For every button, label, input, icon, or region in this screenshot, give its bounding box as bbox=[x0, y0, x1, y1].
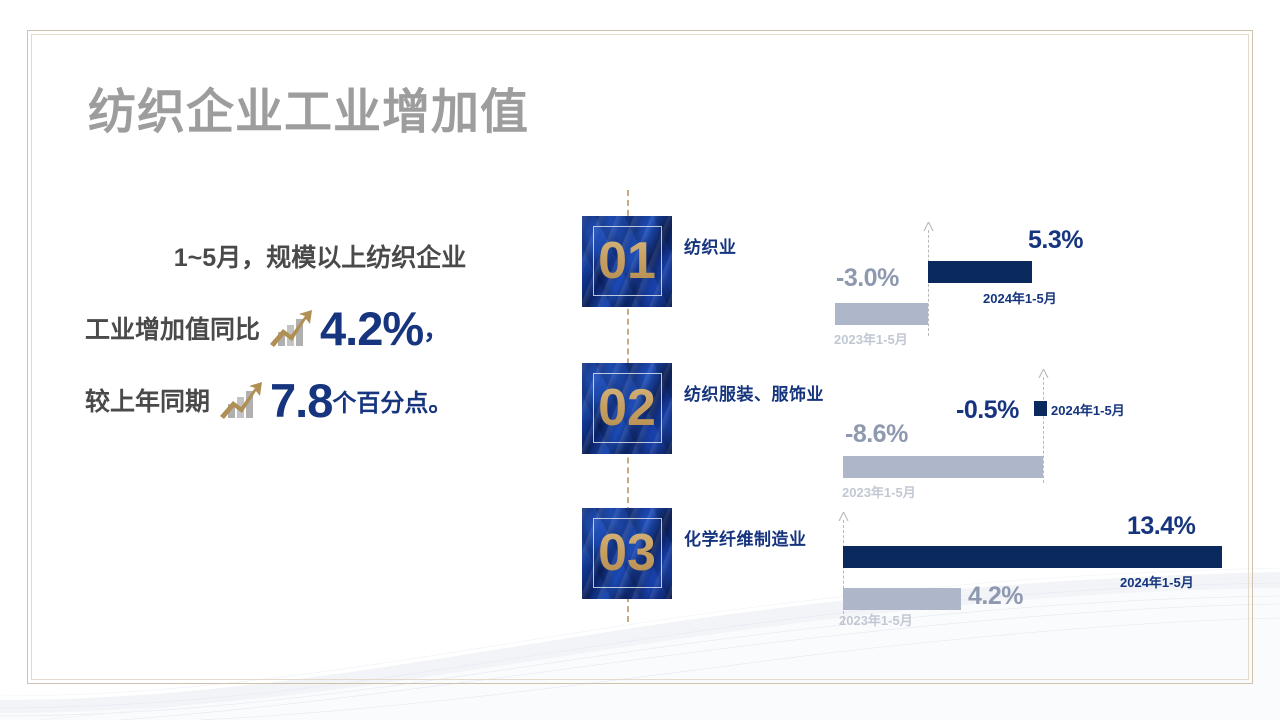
badge-number: 02 bbox=[582, 363, 672, 454]
summary-line-1: 1~5月，规模以上纺织企业 bbox=[85, 220, 555, 292]
badge-number: 03 bbox=[582, 508, 672, 599]
page-title: 纺织企业工业增加值 bbox=[88, 72, 529, 142]
series-label-2024: 2024年1-5月 bbox=[1120, 572, 1194, 591]
value-label-2023: -3.0% bbox=[836, 264, 899, 293]
series-label-2023: 2023年1-5月 bbox=[842, 482, 916, 501]
badge-number: 01 bbox=[582, 216, 672, 307]
summary-line-3-prefix: 较上年同期 bbox=[85, 382, 210, 418]
summary-line-3: 较上年同期 7.8 个百分点。 bbox=[85, 364, 555, 436]
summary-line-2-comma: ， bbox=[423, 310, 449, 347]
trend-up-chart-icon bbox=[268, 308, 314, 348]
number-badge-02: 02 bbox=[582, 363, 672, 454]
axis-arrow-icon bbox=[923, 222, 934, 233]
axis-arrow-icon bbox=[1038, 369, 1049, 380]
bar-chart-03: 13.4% 2024年1-5月 4.2% 2023年1-5月 bbox=[830, 508, 1250, 628]
summary-line-3-suffix: 个百分点。 bbox=[332, 383, 452, 418]
bar-2023 bbox=[843, 588, 961, 610]
number-badge-01: 01 bbox=[582, 216, 672, 307]
bar-chart-01: 5.3% 2024年1-5月 -3.0% 2023年1-5月 bbox=[830, 216, 1130, 336]
number-badge-03: 03 bbox=[582, 508, 672, 599]
value-label-2024: -0.5% bbox=[956, 396, 1019, 425]
value-label-2023: -8.6% bbox=[845, 420, 908, 449]
bar-chart-02: -0.5% 2024年1-5月 -8.6% 2023年1-5月 bbox=[830, 363, 1170, 483]
value-label-2024: 13.4% bbox=[1127, 512, 1195, 541]
axis-arrow-icon bbox=[838, 512, 849, 523]
series-label-2024: 2024年1-5月 bbox=[983, 288, 1057, 307]
bar-2024 bbox=[843, 546, 1222, 568]
series-label-2023: 2023年1-5月 bbox=[839, 610, 913, 629]
category-label-03: 化学纤维制造业 bbox=[684, 525, 807, 550]
series-label-2024: 2024年1-5月 bbox=[1051, 400, 1125, 419]
category-label-02: 纺织服装、服饰业 bbox=[684, 380, 824, 405]
zero-axis-line bbox=[928, 230, 929, 336]
value-label-2024: 5.3% bbox=[1028, 226, 1083, 255]
summary-line-2: 工业增加值同比 4.2% ， bbox=[85, 292, 555, 364]
bar-2023 bbox=[843, 456, 1043, 478]
summary-line-2-prefix: 工业增加值同比 bbox=[85, 310, 260, 346]
bar-2024 bbox=[1034, 401, 1047, 416]
bar-2023 bbox=[835, 303, 928, 325]
summary-line-2-value: 4.2% bbox=[320, 305, 423, 352]
category-label-01: 纺织业 bbox=[684, 233, 737, 258]
zero-axis-line bbox=[1043, 377, 1044, 483]
summary-text-block: 1~5月，规模以上纺织企业 工业增加值同比 4.2% ， 较上年同期 7.8 个… bbox=[85, 220, 555, 436]
bar-2024 bbox=[928, 261, 1032, 283]
slide-canvas: 纺织企业工业增加值 1~5月，规模以上纺织企业 工业增加值同比 4.2% ， 较… bbox=[0, 0, 1280, 720]
value-label-2023: 4.2% bbox=[968, 582, 1023, 611]
summary-line-1-text: 1~5月，规模以上纺织企业 bbox=[174, 238, 466, 274]
series-label-2023: 2023年1-5月 bbox=[834, 329, 908, 348]
trend-up-chart-icon bbox=[218, 380, 264, 420]
summary-line-3-value: 7.8 bbox=[270, 377, 332, 424]
